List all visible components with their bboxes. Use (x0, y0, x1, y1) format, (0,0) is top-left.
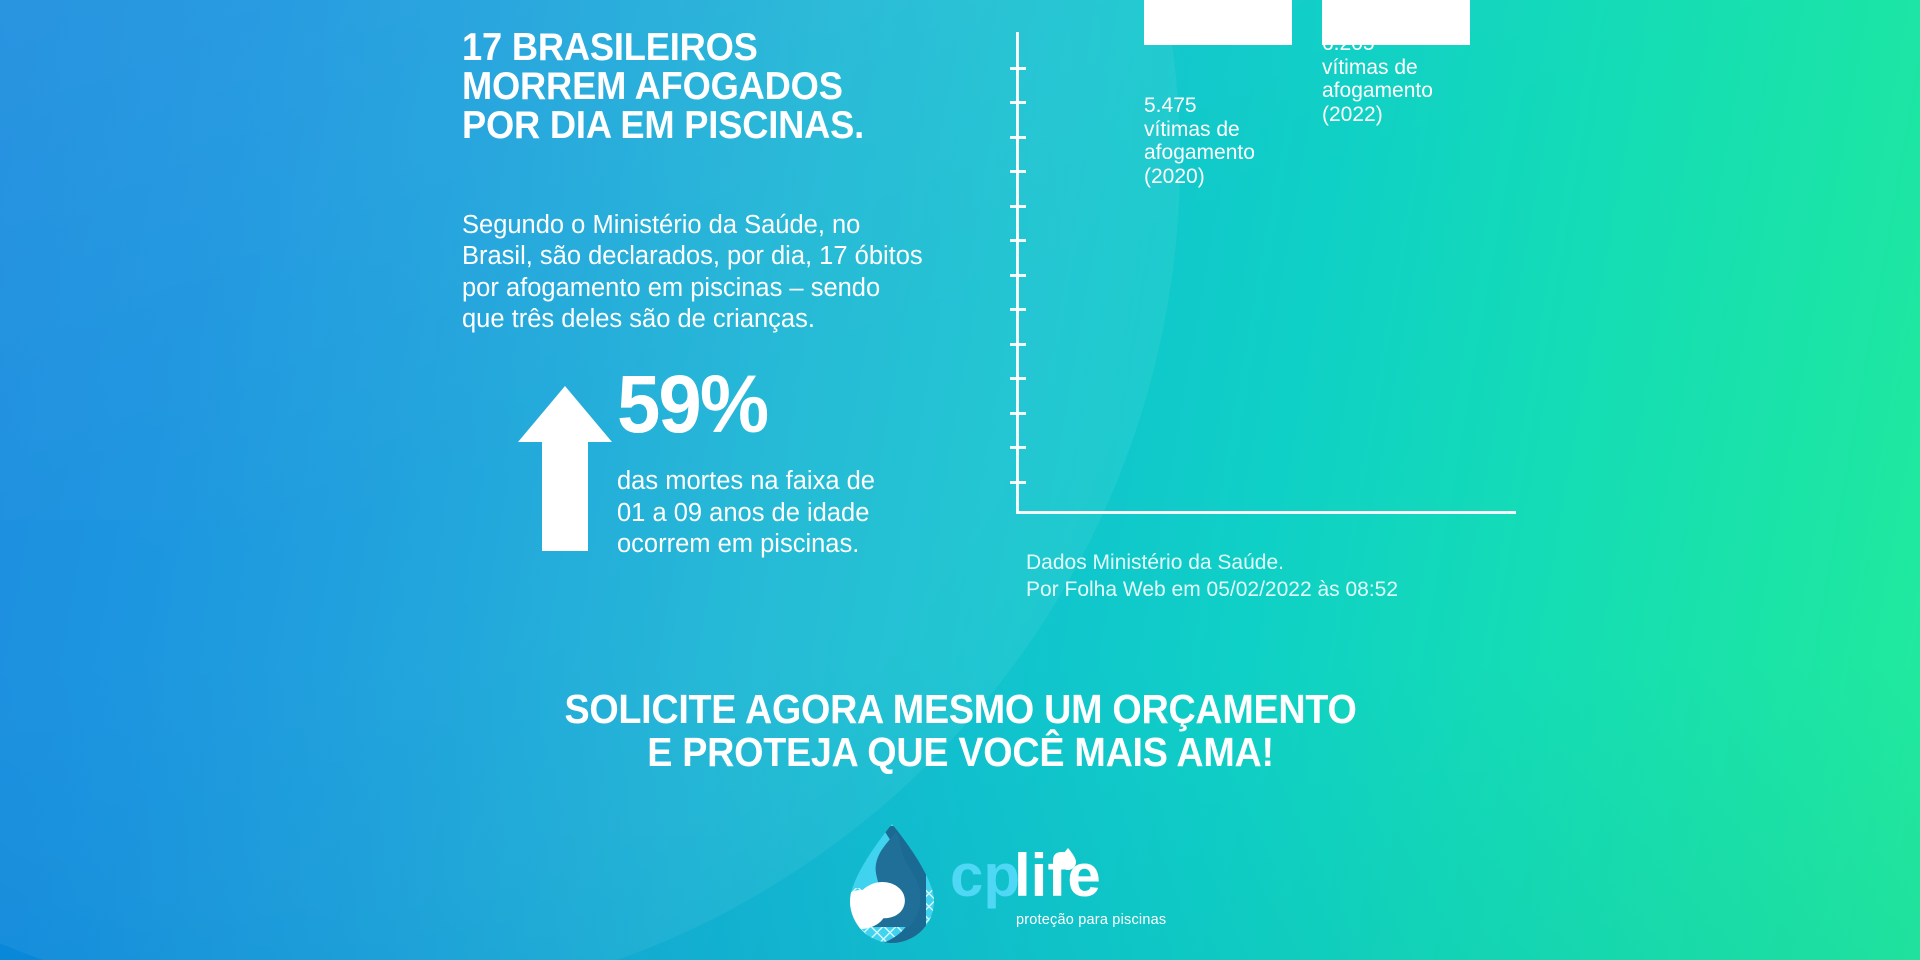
y-axis-tick (1010, 481, 1026, 484)
y-axis-tick (1010, 446, 1026, 449)
logo[interactable]: cp life proteção para piscinas (838, 822, 1118, 947)
bar-2020 (1144, 0, 1292, 45)
svg-text:life: life (1014, 844, 1101, 909)
infographic-poster: 17 BRASILEIROS MORREM AFOGADOS POR DIA E… (0, 0, 1920, 960)
y-axis-tick (1010, 170, 1026, 173)
source-credit: Dados Ministério da Saúde. Por Folha Web… (1026, 550, 1546, 604)
arrow-up-icon (518, 386, 612, 551)
water-drop-mother-child-icon (838, 822, 946, 947)
y-axis-tick (1010, 308, 1026, 311)
y-axis-tick (1010, 101, 1026, 104)
y-axis-tick (1010, 67, 1026, 70)
statistic-block: 59% das mortes na faixa de 01 a 09 anos … (500, 408, 920, 598)
y-axis-tick (1010, 205, 1026, 208)
page-title: 17 BRASILEIROS MORREM AFOGADOS POR DIA E… (462, 28, 946, 145)
cta-headline: SOLICITE AGORA MESMO UM ORÇAMENTO E PROT… (0, 688, 1920, 775)
bar-chart: 5.475 vítimas de afogamento (2020) 6.205… (1016, 28, 1536, 528)
left-column: 17 BRASILEIROS MORREM AFOGADOS POR DIA E… (462, 28, 982, 145)
chart-x-axis (1016, 511, 1516, 514)
y-axis-tick (1010, 377, 1026, 380)
y-axis-tick (1010, 239, 1026, 242)
y-axis-tick (1010, 412, 1026, 415)
y-axis-tick (1010, 274, 1026, 277)
chart-y-axis (1016, 32, 1019, 514)
bar-label-2022: 6.205 vítimas de afogamento (2022) (1322, 32, 1492, 126)
logo-wordmark: cp life (950, 844, 1150, 910)
statistic-caption: das mortes na faixa de 01 a 09 anos de i… (617, 466, 927, 561)
y-axis-tick (1010, 136, 1026, 139)
statistic-value: 59% (617, 364, 767, 446)
y-axis-tick (1010, 343, 1026, 346)
logo-tagline: proteção para piscinas (1016, 912, 1166, 928)
lede-paragraph: Segundo o Ministério da Saúde, no Brasil… (462, 210, 972, 335)
svg-text:cp: cp (950, 844, 1020, 909)
bar-label-2020: 5.475 vítimas de afogamento (2020) (1144, 94, 1304, 188)
cta-text: SOLICITE AGORA MESMO UM ORÇAMENTO E PROT… (564, 688, 1356, 775)
